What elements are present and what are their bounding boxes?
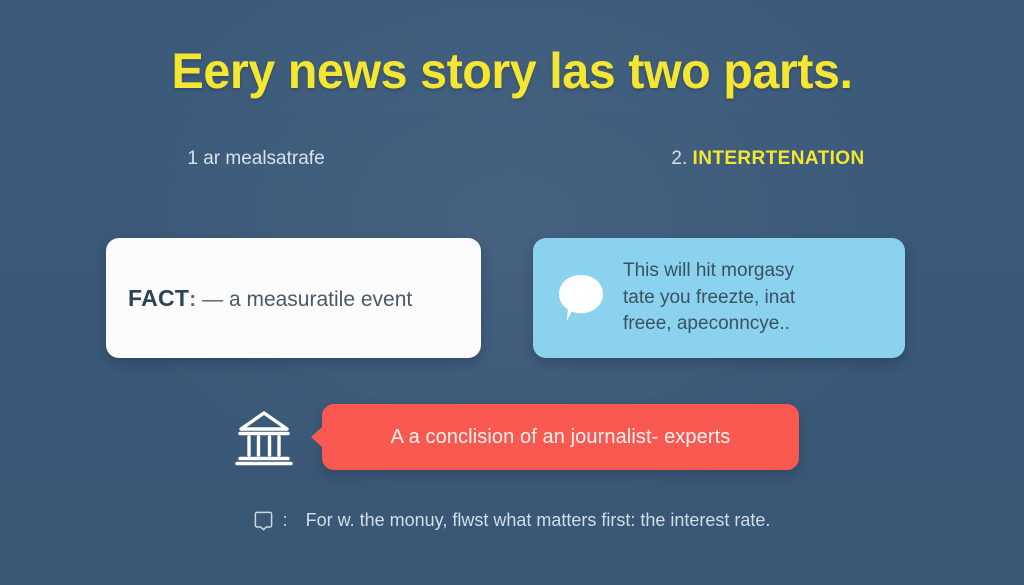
column-number-2: 2. — [671, 148, 687, 169]
fact-card: FACT: — a measuratile event — [106, 238, 481, 358]
interpretation-card-text: This will hit morgasy tate you freezte, … — [623, 258, 795, 339]
conclusion-banner: A a conclision of an journalist- experts — [322, 404, 799, 470]
column-label-interpretation: 2. INTERRTENATION — [512, 148, 1024, 171]
fact-card-dash: — — [202, 288, 223, 311]
column-title-1: ar mealsatrafe — [203, 148, 324, 169]
footer-note: : For w. the monuy, flwst what matters f… — [0, 510, 1024, 531]
footer-text: For w. the monuy, flwst what matters fir… — [306, 510, 771, 531]
interpretation-card: This will hit morgasy tate you freezte, … — [533, 238, 905, 358]
column-number-1: 1 — [187, 148, 198, 169]
column-label-row: 1 ar mealsatrafe 2. INTERRTENATION — [0, 148, 1024, 171]
conclusion-row: A a conclision of an journalist- experts — [0, 404, 1024, 472]
footer-colon: : — [283, 510, 288, 531]
column-title-2: INTERRTENATION — [693, 148, 865, 169]
page-title: Eery news story las two parts. — [15, 44, 1008, 98]
shield-icon — [254, 510, 273, 531]
interpretation-line-3: freee, apeconncye.. — [623, 311, 795, 338]
bank-icon — [233, 407, 295, 469]
fact-card-line: FACT: — a measuratile event — [128, 285, 412, 312]
conclusion-banner-text: A a conclision of an journalist- experts — [391, 426, 731, 449]
fact-card-key: FACT — [128, 285, 189, 311]
speech-bubble-icon — [555, 272, 607, 324]
column-label-fact: 1 ar mealsatrafe — [0, 148, 512, 171]
infographic-stage: Eery news story las two parts. 1 ar meal… — [0, 0, 1024, 585]
fact-card-value: a measuratile event — [229, 288, 412, 311]
fact-card-separator: : — [189, 288, 196, 311]
interpretation-line-1: This will hit morgasy — [623, 258, 795, 285]
cards-row: FACT: — a measuratile event This will hi… — [0, 238, 1024, 358]
interpretation-line-2: tate you freezte, inat — [623, 285, 795, 312]
